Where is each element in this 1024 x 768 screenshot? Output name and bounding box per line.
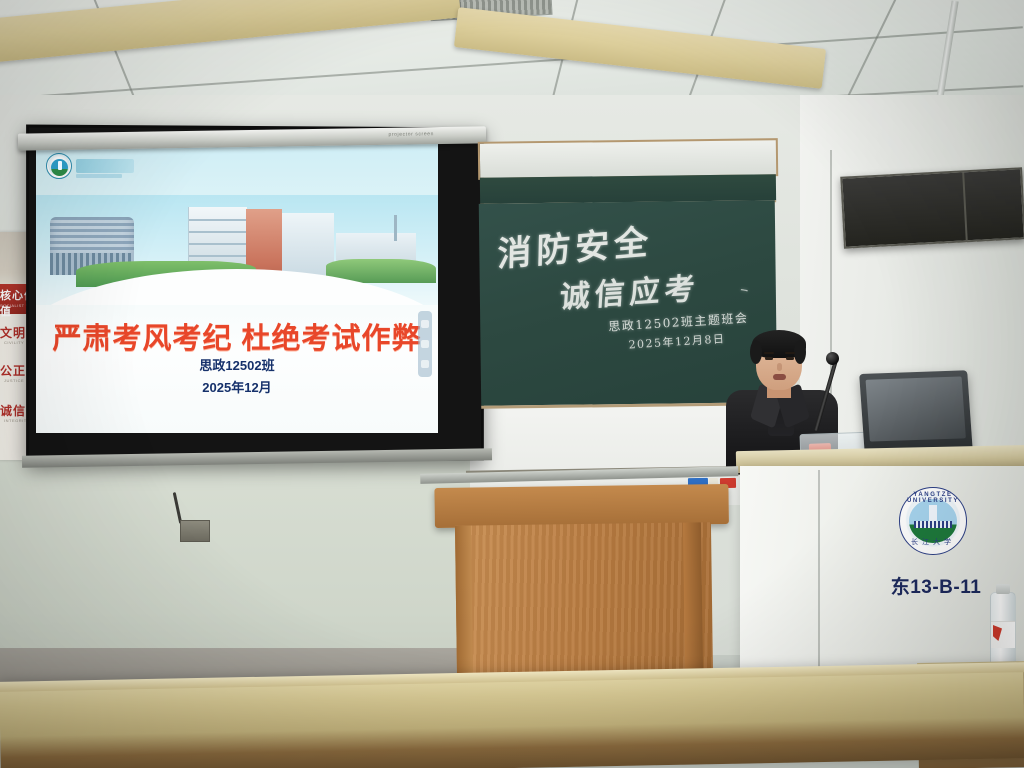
person-hair-side-right [794, 340, 806, 364]
university-wordmark [76, 159, 134, 173]
university-emblem-icon [46, 153, 72, 179]
bottle-cap[interactable] [996, 584, 1010, 594]
wall-mounted-speaker [840, 167, 1024, 248]
chalk-line-4: 2025年12月8日 [628, 330, 726, 352]
chalk-line-1: 消防安全 [497, 214, 654, 276]
slide-floating-toolbar[interactable] [418, 311, 432, 377]
person-eyebrow-right [785, 352, 795, 354]
roller-brand-text: projector screen [388, 131, 434, 138]
chair-top-rail [434, 484, 729, 528]
more-icon[interactable] [421, 360, 429, 368]
podium-door-seam[interactable] [818, 470, 820, 676]
university-wordmark-sub [76, 174, 122, 178]
slide-subtitle-class: 思政12502班 [36, 355, 438, 374]
wall-below-screen [0, 455, 470, 680]
chalk-line-2: 诚信应考 [559, 263, 701, 316]
presentation-slide: 严肃考风考纪 杜绝考试作弊 思政12502班 2025年12月 [36, 143, 438, 433]
poster-value-2: 诚信 [0, 402, 26, 419]
person-hair-side-left [750, 340, 762, 364]
monitor-screen[interactable] [866, 376, 966, 441]
person-eyebrow-left [764, 352, 774, 354]
slide-subtitle-date: 2025年12月 [36, 377, 438, 396]
chalk-tick-mark: 丶 [734, 279, 755, 302]
slide-university-logo [46, 151, 86, 181]
poster-value-1: 公正 [0, 362, 26, 379]
blackboard-upper-panel [478, 138, 778, 180]
poster-value-1-en: JUSTICE [4, 378, 24, 383]
podium-monitor[interactable] [859, 370, 973, 456]
room-number-label: 东13-B-11 [888, 572, 984, 599]
classroom-scene: 核心价值 SOCIALIST VALUES 文明 CIVILITY 公正 JUS… [0, 0, 1024, 768]
slide-title: 严肃考风考纪 杜绝考试作弊 [36, 315, 438, 357]
campus-panorama-image [36, 195, 438, 305]
antenna-tower [394, 215, 397, 241]
logo-chinese-name: 长江大学 [900, 537, 966, 547]
pen-icon[interactable] [421, 340, 429, 348]
logo-english-name: YANGTZE UNIVERSITY [900, 492, 966, 504]
microphone-icon[interactable] [826, 352, 839, 365]
poster-value-0: 文明 [0, 324, 26, 341]
person-mouth [773, 374, 786, 380]
white-building-left [188, 207, 247, 269]
speaker-divider [962, 172, 968, 240]
yangtze-university-logo-icon: YANGTZE UNIVERSITY 长江大学 [899, 487, 967, 555]
poster-value-0-en: CIVILITY [4, 340, 24, 345]
note-icon[interactable] [421, 320, 429, 328]
person-nose [777, 363, 782, 371]
person-eye-right [786, 357, 794, 360]
person-eye-left [765, 357, 773, 360]
wall-outlet-box [180, 520, 210, 542]
